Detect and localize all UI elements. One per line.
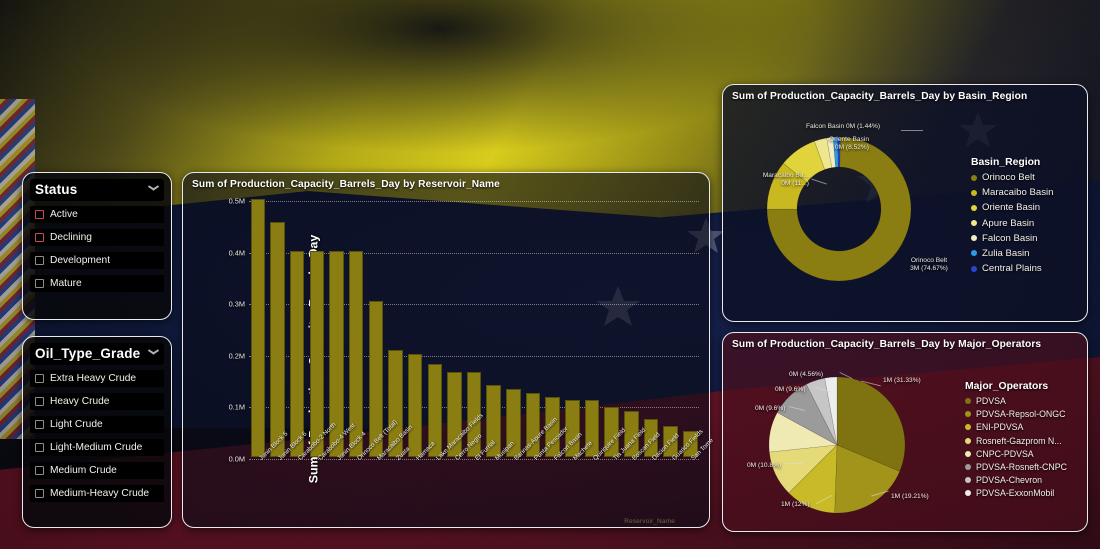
pie-legend-title: Major_Operators bbox=[965, 381, 1067, 392]
x-axis-tick-slot: Quiriquire Field bbox=[583, 455, 601, 519]
legend-item[interactable]: PDVSA-Rosneft-CNPC bbox=[965, 462, 1067, 472]
legend-item-label: PDVSA bbox=[976, 396, 1006, 406]
y-axis-tick: 0.1M bbox=[205, 403, 245, 412]
bar-column[interactable] bbox=[622, 201, 640, 457]
x-axis-tick-slot: Tia Juana Field bbox=[603, 455, 621, 519]
slicer-status-header[interactable]: Status bbox=[30, 179, 164, 201]
legend-color-swatch bbox=[965, 464, 971, 470]
y-axis-tick: 0.4M bbox=[205, 248, 245, 257]
legend-item-label: Maracaibo Basin bbox=[982, 187, 1053, 198]
x-axis-tick-slot: Musipan bbox=[485, 455, 503, 519]
checkbox-icon[interactable] bbox=[35, 443, 44, 452]
x-axis-tick-slot: Hamaca bbox=[406, 455, 424, 519]
y-axis-tick: 0.5M bbox=[205, 197, 245, 206]
bar-column[interactable] bbox=[328, 201, 346, 457]
pie-data-label-5: 0M (9.6%) bbox=[755, 405, 785, 412]
bar-column[interactable] bbox=[642, 201, 660, 457]
slicer-item-extra-heavy-crude[interactable]: Extra Heavy Crude bbox=[30, 370, 164, 387]
pie-graphic[interactable]: PDVSA 31.33%PDVSA-Repsol-ONGC 19.21%ENI-… bbox=[727, 353, 957, 531]
legend-item-label: PDVSA-Chevron bbox=[976, 475, 1042, 485]
legend-color-swatch bbox=[965, 438, 971, 444]
x-axis-tick-slot: El Furrial bbox=[465, 455, 483, 519]
legend-item[interactable]: Apure Basin bbox=[971, 218, 1053, 229]
legend-item-label: Central Plains bbox=[982, 263, 1042, 274]
legend-item[interactable]: Falcon Basin bbox=[971, 233, 1053, 244]
legend-item-label: PDVSA-ExxonMobil bbox=[976, 488, 1054, 498]
slicer-item-light-medium-crude[interactable]: Light-Medium Crude bbox=[30, 439, 164, 456]
bar-chart-x-axis-title: Reservoir_Name bbox=[624, 518, 675, 525]
y-axis-tick: 0.3M bbox=[205, 300, 245, 309]
y-axis-tick: 0.0M bbox=[205, 455, 245, 464]
legend-item[interactable]: Oriente Basin bbox=[971, 202, 1053, 213]
legend-item[interactable]: PDVSA-Chevron bbox=[965, 475, 1067, 485]
legend-item-label: Rosneft-Gazprom N... bbox=[976, 436, 1062, 446]
legend-item[interactable]: Central Plains bbox=[971, 263, 1053, 274]
bar-column[interactable] bbox=[308, 201, 326, 457]
dashboard-canvas: VENEZUELA 'S OIL RESERVES ANALYSIS,DASHB… bbox=[0, 0, 1100, 549]
checkbox-icon[interactable] bbox=[35, 233, 44, 242]
checkbox-icon[interactable] bbox=[35, 374, 44, 383]
bar-column[interactable] bbox=[347, 201, 365, 457]
slicer-item-development[interactable]: Development bbox=[30, 252, 164, 269]
pie-data-label-4: 0M (10.8%) bbox=[747, 462, 781, 469]
legend-color-swatch bbox=[971, 250, 977, 256]
bar[interactable] bbox=[290, 251, 304, 457]
x-axis-tick-slot: Orinoco Belt (Total) bbox=[347, 455, 365, 519]
bar-column[interactable] bbox=[387, 201, 405, 457]
legend-color-swatch bbox=[971, 190, 977, 196]
slicer-item-label: Light-Medium Crude bbox=[50, 442, 142, 453]
x-axis-tick-slot: Cerro Negro bbox=[446, 455, 464, 519]
legend-color-swatch bbox=[971, 235, 977, 241]
bar[interactable] bbox=[408, 354, 422, 457]
slicer-status-title: Status bbox=[35, 182, 77, 197]
checkbox-icon[interactable] bbox=[35, 210, 44, 219]
bar[interactable] bbox=[251, 199, 265, 457]
pie-chart-plot: PDVSA 31.33%PDVSA-Repsol-ONGC 19.21%ENI-… bbox=[723, 353, 1087, 531]
donut-chart-panel[interactable]: Sum of Production_Capacity_Barrels_Day b… bbox=[722, 84, 1088, 322]
checkbox-icon[interactable] bbox=[35, 256, 44, 265]
legend-item-label: Orinoco Belt bbox=[982, 172, 1035, 183]
bar-column[interactable] bbox=[681, 201, 699, 457]
slicer-oil-type-grade[interactable]: Oil_Type_Grade Extra Heavy Crude Heavy C… bbox=[22, 336, 172, 528]
slicer-item-label: Medium-Heavy Crude bbox=[50, 488, 149, 499]
slicer-item-heavy-crude[interactable]: Heavy Crude bbox=[30, 393, 164, 410]
legend-color-swatch bbox=[971, 205, 977, 211]
bar-chart-x-axis: Junin Block 5Junin Block 6Carabobo-2 Nor… bbox=[249, 455, 699, 519]
pie-chart-panel[interactable]: Sum of Production_Capacity_Barrels_Day b… bbox=[722, 332, 1088, 532]
y-axis-tick: 0.2M bbox=[205, 351, 245, 360]
legend-item-label: Oriente Basin bbox=[982, 202, 1040, 213]
legend-color-swatch bbox=[965, 424, 971, 430]
legend-item[interactable]: PDVSA bbox=[965, 396, 1067, 406]
checkbox-icon[interactable] bbox=[35, 489, 44, 498]
x-axis-tick-slot: Punta Pescador bbox=[524, 455, 542, 519]
legend-item[interactable]: ENI-PDVSA bbox=[965, 422, 1067, 432]
pie-data-label-7: 0M (4.56%) bbox=[789, 371, 823, 378]
legend-color-swatch bbox=[965, 490, 971, 496]
slicer-item-medium-heavy-crude[interactable]: Medium-Heavy Crude bbox=[30, 485, 164, 502]
pie-data-label-2: 1M (19.21%) bbox=[891, 493, 929, 500]
slicer-item-label: Declining bbox=[50, 232, 92, 243]
legend-item[interactable]: PDVSA-Repsol-ONGC bbox=[965, 409, 1067, 419]
chevron-down-icon[interactable] bbox=[148, 186, 159, 193]
donut-data-label-orinoco: Orinoco Belt3M (74.67%) bbox=[893, 257, 965, 273]
pie-chart-title: Sum of Production_Capacity_Barrels_Day b… bbox=[723, 333, 1087, 350]
legend-color-swatch bbox=[971, 220, 977, 226]
donut-chart-plot: Orinoco Belt 74.67%Maracaibo Basin 11%Or… bbox=[723, 105, 1087, 321]
legend-item[interactable]: Zulia Basin bbox=[971, 248, 1053, 259]
x-axis-tick-slot: Maracaibo Basin bbox=[367, 455, 385, 519]
legend-color-swatch bbox=[971, 266, 977, 272]
x-axis-tick-slot: Carabobo-2 North bbox=[288, 455, 306, 519]
checkbox-icon[interactable] bbox=[35, 279, 44, 288]
slicer-item-label: Mature bbox=[50, 278, 82, 289]
checkbox-icon[interactable] bbox=[35, 466, 44, 475]
x-axis-tick-slot: Carabobo-4 West bbox=[308, 455, 326, 519]
bar-chart-title: Sum of Production_Capacity_Barrels_Day b… bbox=[183, 173, 709, 190]
x-axis-tick-slot: San Tomé bbox=[681, 455, 699, 519]
slicer-item-label: Development bbox=[50, 255, 110, 266]
slicer-item-label: Active bbox=[50, 209, 78, 220]
bar-column[interactable] bbox=[367, 201, 385, 457]
bar-column[interactable] bbox=[662, 201, 680, 457]
bar-column[interactable] bbox=[269, 201, 287, 457]
x-axis-tick-slot: Falcon Basin bbox=[544, 455, 562, 519]
legend-color-swatch bbox=[965, 411, 971, 417]
pie-chart-legend: Major_Operators PDVSAPDVSA-Repsol-ONGCEN… bbox=[965, 381, 1067, 502]
slicer-oil-type-grade-title: Oil_Type_Grade bbox=[35, 346, 140, 361]
x-axis-tick-slot: Dacion Field bbox=[642, 455, 660, 519]
bar-column[interactable] bbox=[583, 201, 601, 457]
pie-data-label-6: 0M (9.6%) bbox=[775, 386, 805, 393]
bar-column[interactable] bbox=[603, 201, 621, 457]
bar-column[interactable] bbox=[564, 201, 582, 457]
x-axis-tick-slot: Junin Block 5 bbox=[249, 455, 267, 519]
legend-item-label: Zulia Basin bbox=[982, 248, 1029, 259]
legend-item[interactable]: Rosneft-Gazprom N... bbox=[965, 436, 1067, 446]
x-axis-tick-slot: Lake Maracaibo Fields bbox=[426, 455, 444, 519]
bar-chart-panel[interactable]: Sum of Production_Capacity_Barrels_Day b… bbox=[182, 172, 710, 528]
pie-data-label-1: 1M (31.33%) bbox=[883, 377, 921, 384]
slicer-item-light-crude[interactable]: Light Crude bbox=[30, 416, 164, 433]
slicer-item-label: Medium Crude bbox=[50, 465, 117, 476]
slicer-item-mature[interactable]: Mature bbox=[30, 275, 164, 292]
donut-legend-title: Basin_Region bbox=[971, 157, 1053, 168]
legend-item-label: PDVSA-Repsol-ONGC bbox=[976, 409, 1065, 419]
donut-data-label-falcon: Falcon Basin 0M (1.44%) bbox=[806, 123, 880, 131]
legend-item-label: ENI-PDVSA bbox=[976, 422, 1023, 432]
donut-data-label-oriente: Oriente Basin0M (8.52%) bbox=[791, 136, 869, 152]
legend-item[interactable]: PDVSA-ExxonMobil bbox=[965, 488, 1067, 498]
bar[interactable] bbox=[270, 222, 284, 457]
bar-column[interactable] bbox=[406, 201, 424, 457]
donut-chart-title: Sum of Production_Capacity_Barrels_Day b… bbox=[723, 85, 1087, 102]
bar[interactable] bbox=[310, 251, 324, 457]
legend-color-swatch bbox=[965, 451, 971, 457]
checkbox-icon[interactable] bbox=[35, 420, 44, 429]
legend-item-label: PDVSA-Rosneft-CNPC bbox=[976, 462, 1067, 472]
chevron-down-icon[interactable] bbox=[148, 350, 159, 357]
legend-item[interactable]: Orinoco Belt bbox=[971, 172, 1053, 183]
leader-line bbox=[785, 463, 803, 464]
x-axis-tick-slot: Junin Block 6 bbox=[269, 455, 287, 519]
x-axis-tick-slot: Machete bbox=[564, 455, 582, 519]
slicer-item-active[interactable]: Active bbox=[30, 206, 164, 223]
legend-color-swatch bbox=[971, 175, 977, 181]
x-axis-tick-slot: Barinas-Apure Basin bbox=[505, 455, 523, 519]
bar-column[interactable] bbox=[485, 201, 503, 457]
checkbox-icon[interactable] bbox=[35, 397, 44, 406]
slicer-item-declining[interactable]: Declining bbox=[30, 229, 164, 246]
legend-item[interactable]: Maracaibo Basin bbox=[971, 187, 1053, 198]
donut-chart-legend: Basin_Region Orinoco BeltMaracaibo Basin… bbox=[971, 157, 1053, 278]
legend-item-label: CNPC-PDVSA bbox=[976, 449, 1034, 459]
leader-line bbox=[901, 130, 923, 131]
bar-column[interactable] bbox=[249, 201, 267, 457]
slicer-item-label: Light Crude bbox=[50, 419, 103, 430]
slicer-status[interactable]: Status Active Declining Development Matu… bbox=[22, 172, 172, 320]
x-axis-tick-slot: Guarico Fields bbox=[662, 455, 680, 519]
bar-column[interactable] bbox=[524, 201, 542, 457]
legend-color-swatch bbox=[965, 477, 971, 483]
legend-item-label: Apure Basin bbox=[982, 218, 1034, 229]
slicer-item-label: Extra Heavy Crude bbox=[50, 373, 136, 384]
slicer-item-label: Heavy Crude bbox=[50, 396, 109, 407]
bar-chart-plot: Sum of Production_Capacity_Barrels_Day 0… bbox=[183, 191, 709, 527]
bar-column[interactable] bbox=[426, 201, 444, 457]
slicer-item-medium-crude[interactable]: Medium Crude bbox=[30, 462, 164, 479]
x-axis-tick-slot: Junin Block 4 bbox=[328, 455, 346, 519]
x-axis-tick-slot: Zuata bbox=[387, 455, 405, 519]
donut-data-label-maracaibo: Maracaibo Ba...0M (11...) bbox=[737, 172, 809, 188]
pie-data-label-3: 1M (12%) bbox=[781, 501, 810, 508]
x-axis-tick-slot: Boscan Field bbox=[622, 455, 640, 519]
slicer-oil-type-grade-header[interactable]: Oil_Type_Grade bbox=[30, 343, 164, 365]
bar-column[interactable] bbox=[288, 201, 306, 457]
bar-column[interactable] bbox=[446, 201, 464, 457]
legend-item[interactable]: CNPC-PDVSA bbox=[965, 449, 1067, 459]
legend-item-label: Falcon Basin bbox=[982, 233, 1037, 244]
bar-column[interactable] bbox=[505, 201, 523, 457]
legend-color-swatch bbox=[965, 398, 971, 404]
